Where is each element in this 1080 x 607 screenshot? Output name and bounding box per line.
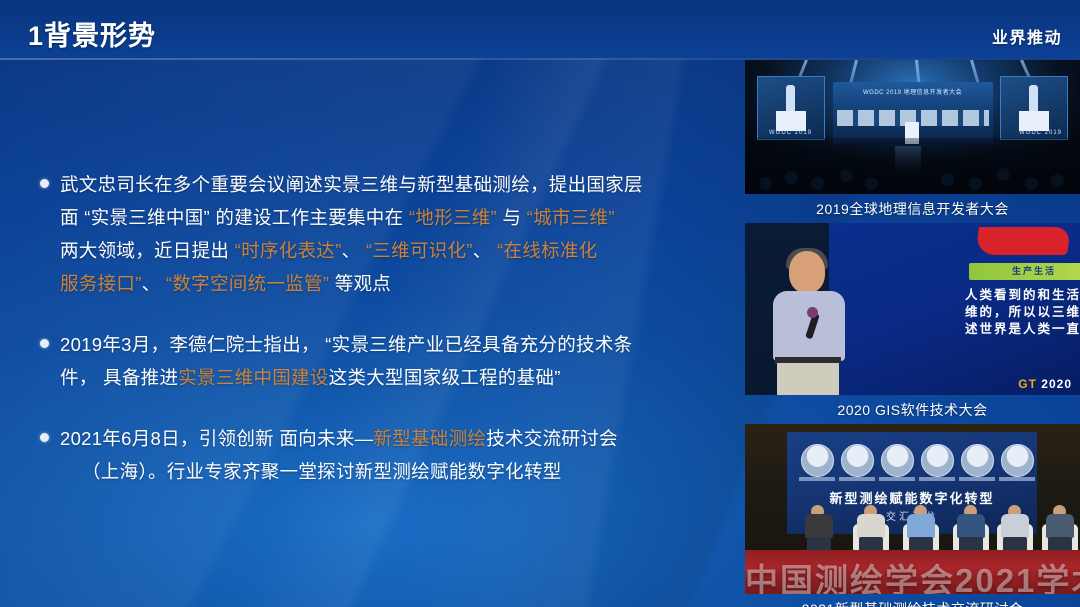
photo-caption-1: 2019全球地理信息开发者大会 bbox=[745, 194, 1080, 223]
green-banner-label: 生产生活 bbox=[969, 263, 1080, 280]
highlight-text: 新型基础测绘 bbox=[373, 428, 486, 449]
body-text: 面 “实景三维中国” 的建设工作主要集中在 bbox=[60, 207, 409, 228]
right-screen-label: WGDC 2019 bbox=[1019, 130, 1062, 136]
photo-column: WGDC 2019 WGDC 2019 WGDC 2019 地理信息开发者大会 bbox=[745, 60, 1080, 607]
photo-2021-forum: 新型测绘赋能数字化转型 交汇沙龙 bbox=[745, 424, 1080, 594]
speaker-figure bbox=[771, 251, 849, 395]
highlight-text: “城市三维” bbox=[527, 207, 615, 228]
presentation-screen: 生产生活 人类看到的和生活的世界是三维的，所以以三维的形式来描述世界是人类一直的… bbox=[829, 223, 1080, 395]
body-text: （上海）。行业专家齐聚一堂探讨新型测绘赋能数字化转型 bbox=[82, 461, 562, 482]
gtc-logo: GT 2020 bbox=[1018, 377, 1072, 391]
body-text: 两大领域，近日提出 bbox=[60, 240, 235, 261]
photo-2020-gtc: 生产生活 人类看到的和生活的世界是三维的，所以以三维的形式来描述世界是人类一直的… bbox=[745, 223, 1080, 395]
body-text: 与 bbox=[497, 207, 527, 228]
bullet-marker bbox=[40, 433, 49, 442]
highlight-text: 实景三维中国建设 bbox=[178, 367, 328, 388]
photo-item-1: WGDC 2019 WGDC 2019 WGDC 2019 地理信息开发者大会 bbox=[745, 60, 1080, 223]
photo-caption-3: 2021新型基础测绘技术交流研讨会 bbox=[745, 594, 1080, 607]
photo-caption-2: 2020 GIS软件技术大会 bbox=[745, 395, 1080, 424]
bullet-text: 2021年6月8日，引领创新 面向未来—新型基础测绘技术交流研讨会（上海）。行业… bbox=[60, 422, 728, 488]
body-text: 2021年6月8日，引领创新 面向未来— bbox=[60, 428, 373, 449]
bullet-line: 2021年6月8日，引领创新 面向未来—新型基础测绘技术交流研讨会 bbox=[60, 422, 728, 455]
highlight-text: “在线标准化 bbox=[497, 240, 597, 261]
photo-item-3: 新型测绘赋能数字化转型 交汇沙龙 bbox=[745, 424, 1080, 607]
gtc-mark: GT bbox=[1018, 377, 1037, 391]
section-tag: 业界推动 bbox=[992, 24, 1062, 48]
bullet-line: 件， 具备推进实景三维中国建设这类大型国家级工程的基础” bbox=[60, 361, 728, 394]
bullet-line: 面 “实景三维中国” 的建设工作主要集中在 “地形三维” 与 “城市三维” bbox=[60, 201, 728, 234]
gtc-year: 2020 bbox=[1041, 377, 1072, 391]
bullet-1: 武文忠司长在多个重要会议阐述实景三维与新型基础测绘，提出国家层面 “实景三维中国… bbox=[28, 168, 728, 300]
bullet-text: 武文忠司长在多个重要会议阐述实景三维与新型基础测绘，提出国家层面 “实景三维中国… bbox=[60, 168, 728, 300]
body-text: 2019年3月，李德仁院士指出， “实景三维产业已经具备充分的技术条 bbox=[60, 334, 632, 355]
forum-screen-title: 新型测绘赋能数字化转型 bbox=[787, 488, 1037, 507]
body-text: 等观点 bbox=[329, 273, 391, 294]
audience-area bbox=[745, 138, 1080, 194]
photo-watermark: 中国测绘学会2021学术年会 bbox=[745, 554, 1080, 594]
body-text: 、 bbox=[342, 240, 366, 261]
bullet-line: 两大领域，近日提出 “时序化表达”、 “三维可识化”、 “在线标准化 bbox=[60, 234, 728, 267]
body-text: 、 bbox=[473, 240, 497, 261]
slide-root: 1背景形势 业界推动 武文忠司长在多个重要会议阐述实景三维与新型基础测绘，提出国… bbox=[0, 0, 1080, 607]
highlight-text: “地形三维” bbox=[409, 207, 497, 228]
highlight-text: “时序化表达” bbox=[235, 240, 342, 261]
red-graphic-shape bbox=[975, 227, 1071, 255]
bullet-3: 2021年6月8日，引领创新 面向未来—新型基础测绘技术交流研讨会（上海）。行业… bbox=[28, 422, 728, 488]
bullet-text: 2019年3月，李德仁院士指出， “实景三维产业已经具备充分的技术条件， 具备推… bbox=[60, 328, 728, 394]
photo-item-2: 生产生活 人类看到的和生活的世界是三维的，所以以三维的形式来描述世界是人类一直的… bbox=[745, 223, 1080, 424]
bullet-2: 2019年3月，李德仁院士指出， “实景三维产业已经具备充分的技术条件， 具备推… bbox=[28, 328, 728, 394]
bullet-line: 服务接口”、 “数字空间统一监管” 等观点 bbox=[60, 267, 728, 300]
bullet-line: （上海）。行业专家齐聚一堂探讨新型测绘赋能数字化转型 bbox=[60, 455, 728, 488]
header-band bbox=[0, 0, 1080, 58]
body-text: 、 bbox=[142, 273, 166, 294]
body-text: 这类大型国家级工程的基础” bbox=[329, 367, 561, 388]
body-text: 件， 具备推进 bbox=[60, 367, 178, 388]
page-title: 1背景形势 bbox=[28, 14, 156, 53]
highlight-text: 服务接口” bbox=[60, 273, 142, 294]
bullet-list: 武文忠司长在多个重要会议阐述实景三维与新型基础测绘，提出国家层面 “实景三维中国… bbox=[28, 168, 728, 516]
body-text: 技术交流研讨会 bbox=[486, 428, 618, 449]
bullet-line: 2019年3月，李德仁院士指出， “实景三维产业已经具备充分的技术条 bbox=[60, 328, 728, 361]
bullet-line: 武文忠司长在多个重要会议阐述实景三维与新型基础测绘，提出国家层 bbox=[60, 168, 728, 201]
bullet-marker bbox=[40, 339, 49, 348]
screen-text: 人类看到的和生活的世界是三维的，所以以三维的形式来描述世界是人类一直的追求。 bbox=[965, 287, 1080, 338]
bullet-marker bbox=[40, 179, 49, 188]
left-screen-label: WGDC 2019 bbox=[769, 130, 812, 136]
stage-screen-label: WGDC 2019 地理信息开发者大会 bbox=[863, 87, 962, 96]
green-banner: 生产生活 bbox=[969, 263, 1080, 280]
body-text: 武文忠司长在多个重要会议阐述实景三维与新型基础测绘，提出国家层 bbox=[60, 174, 643, 195]
panelist-avatars bbox=[795, 444, 1029, 484]
highlight-text: “数字空间统一监管” bbox=[166, 273, 329, 294]
highlight-text: “三维可识化” bbox=[366, 240, 473, 261]
photo-2019-wgdc: WGDC 2019 WGDC 2019 WGDC 2019 地理信息开发者大会 bbox=[745, 60, 1080, 194]
